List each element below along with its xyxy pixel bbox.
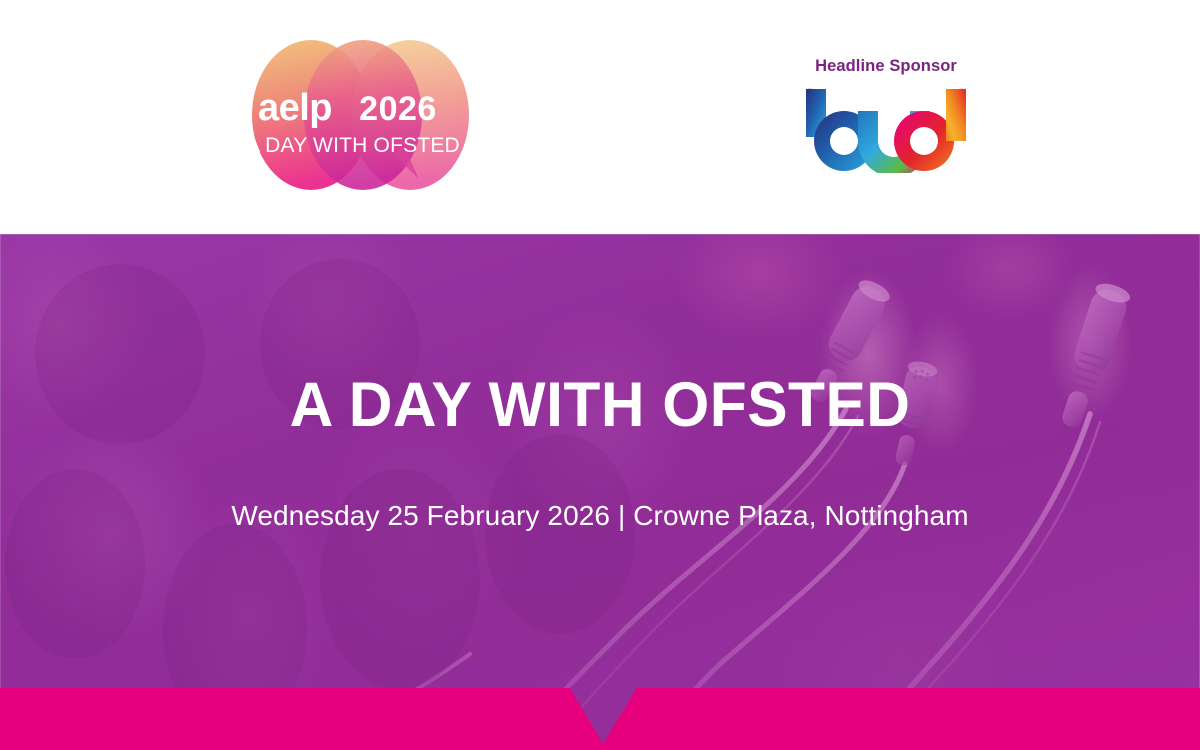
headline-sponsor-block: Headline Sponsor [786, 58, 986, 184]
svg-text:A DAY WITH OFSTED: A DAY WITH OFSTED [246, 134, 460, 157]
banner-header: aelp 2026 A DAY WITH OFSTED Headline Spo… [0, 0, 1200, 234]
page-title: A DAY WITH OFSTED [24, 374, 1176, 437]
aelp-event-logo[interactable]: aelp 2026 A DAY WITH OFSTED [243, 36, 478, 194]
hero-banner: A DAY WITH OFSTED Wednesday 25 February … [0, 234, 1200, 750]
headline-sponsor-label: Headline Sponsor [786, 58, 986, 75]
bud-sponsor-logo[interactable] [800, 85, 972, 173]
svg-text:aelp: aelp [258, 87, 332, 129]
event-date-venue: Wednesday 25 February 2026 | Crowne Plaz… [0, 502, 1200, 530]
footer-accent-bar [0, 688, 1200, 750]
event-banner-page: aelp 2026 A DAY WITH OFSTED Headline Spo… [0, 0, 1200, 750]
hero-content: A DAY WITH OFSTED Wednesday 25 February … [0, 234, 1200, 750]
v-notch-triangle [0, 688, 1200, 750]
svg-text:2026: 2026 [359, 90, 437, 128]
